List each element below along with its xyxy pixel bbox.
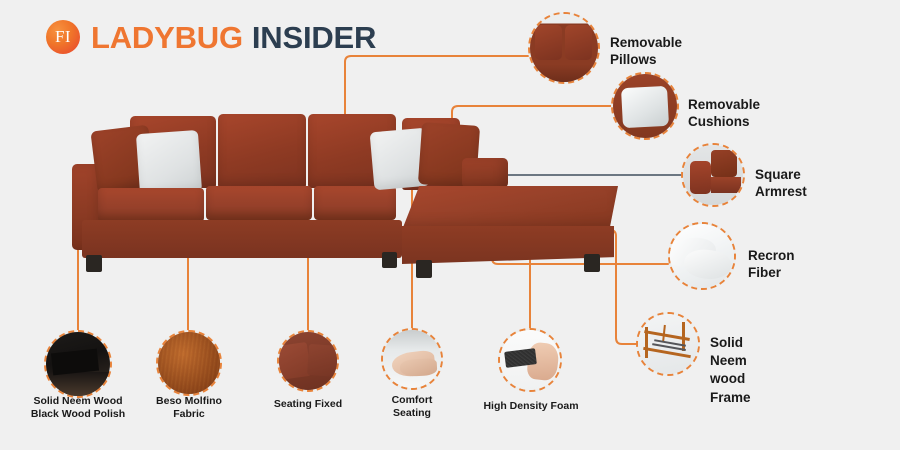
wood-frame-photo-icon — [636, 312, 700, 376]
sofa-seat-cushion-1 — [98, 188, 204, 222]
callout-label: Seating Fixed — [248, 398, 368, 411]
callout-label: High Density Foam — [470, 400, 592, 413]
sofa-seat-cushion-2 — [206, 186, 312, 220]
callout-label: Square Armrest — [755, 166, 807, 201]
square-armrest-photo-icon — [681, 143, 745, 207]
callout-label: Removable Pillows — [610, 34, 682, 69]
fixed-seating-photo-icon — [277, 330, 339, 392]
page-title: LADYBUGINSIDER — [91, 22, 376, 53]
white-pillow-photo-icon — [611, 72, 679, 140]
ladybug-fi-monogram-icon: FI — [46, 20, 80, 54]
sofa-base-frame — [82, 220, 402, 258]
brand-header: FI LADYBUGINSIDER — [46, 20, 376, 54]
sectional-sofa-illustration — [72, 100, 652, 290]
callout-label: Beso Molfino Fabric — [124, 395, 254, 422]
chaise-armrest — [462, 158, 508, 188]
callout-label: Solid Neem wood Frame — [710, 334, 751, 407]
white-fiber-photo-icon — [668, 222, 736, 290]
hand-holding-foam-photo-icon — [498, 328, 562, 392]
back-cushions-photo-icon — [528, 12, 600, 84]
brand-word-ladybug: LADYBUG — [91, 20, 243, 55]
callout-label: Recron Fiber — [748, 247, 795, 282]
brand-word-insider: INSIDER — [252, 20, 376, 55]
hand-pressing-cushion-photo-icon — [381, 328, 443, 390]
sofa-accent-pillow-white-left — [136, 130, 202, 196]
chaise-foot-left — [416, 260, 432, 278]
sofa-seat-cushion-3 — [314, 186, 396, 220]
callout-label: Removable Cushions — [688, 96, 760, 131]
black-polished-wood-photo-icon — [44, 330, 112, 398]
callout-label: Comfort Seating — [352, 394, 472, 421]
sofa-back-cushion-2 — [218, 114, 306, 188]
fabric-swatch-photo-icon — [156, 330, 222, 396]
chaise-base — [402, 226, 614, 264]
sofa-foot-left — [86, 255, 102, 272]
infographic-canvas: FI LADYBUGINSIDER — [0, 0, 900, 450]
chaise-foot-right — [584, 254, 600, 272]
sofa-foot-mid — [382, 252, 397, 268]
chaise-seat-top — [402, 186, 618, 230]
